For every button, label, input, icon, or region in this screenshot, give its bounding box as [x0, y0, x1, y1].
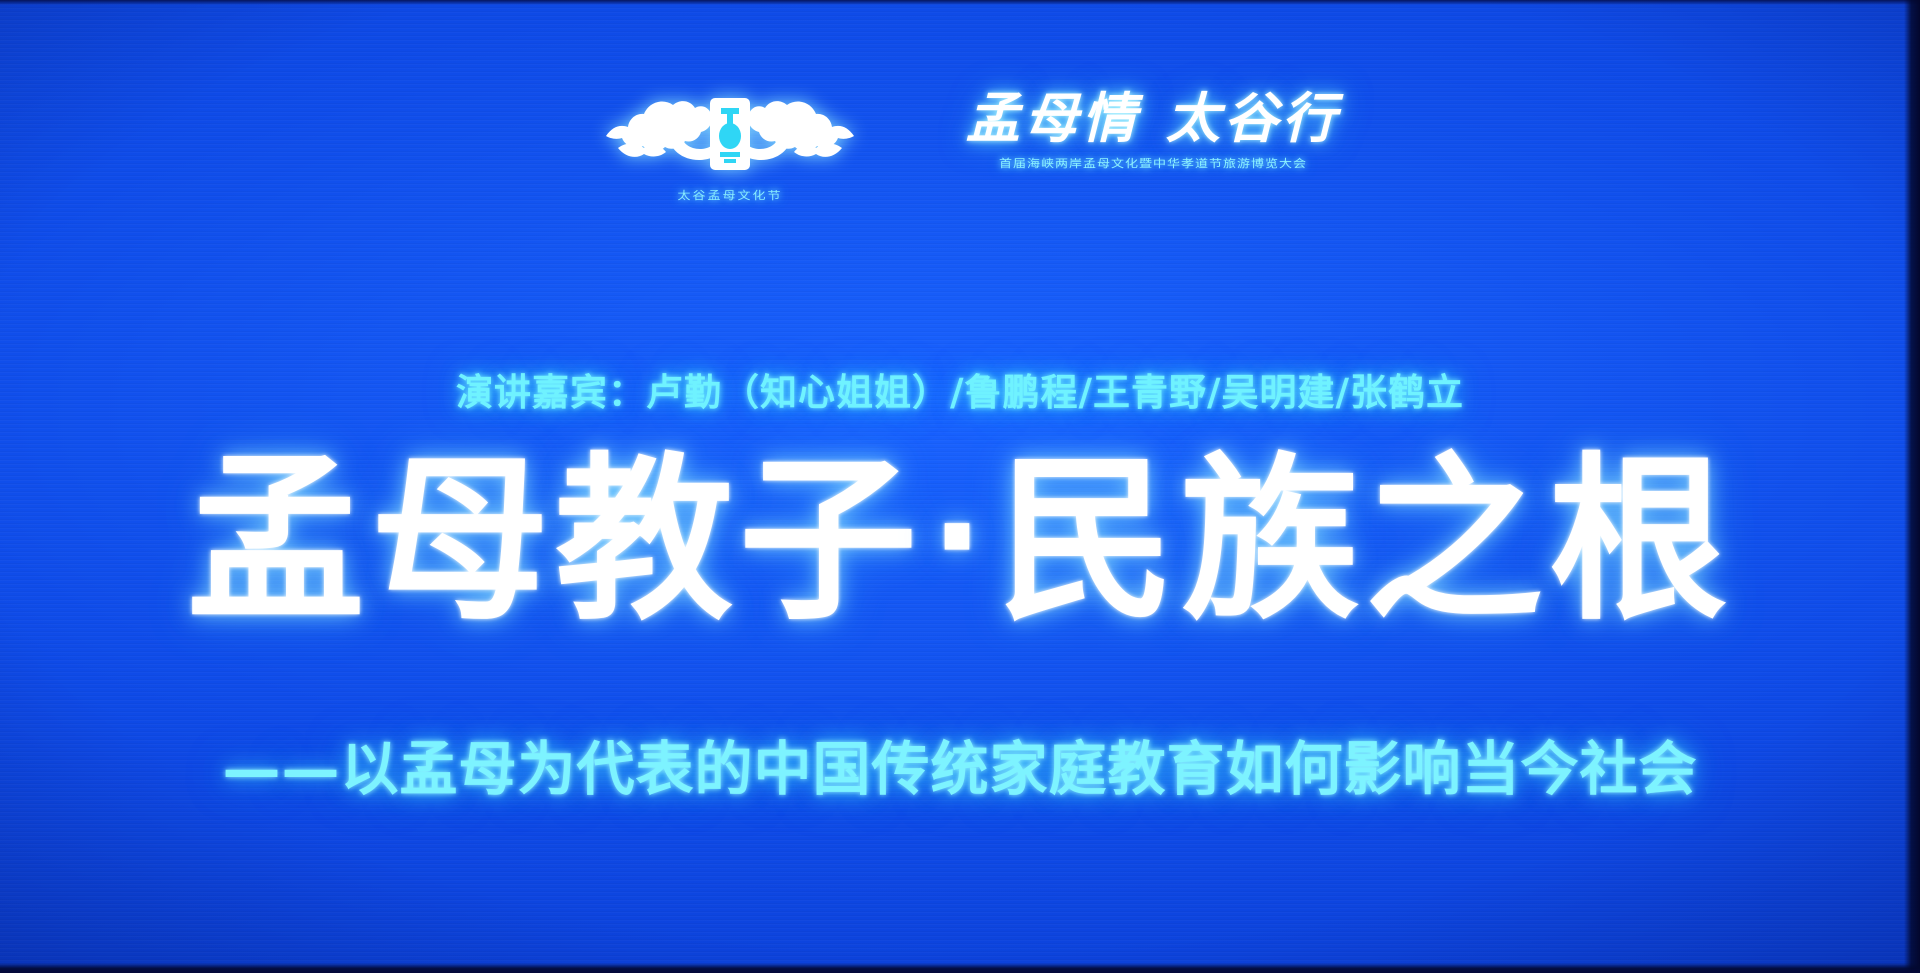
calligraphy-phrase-one: 孟母情: [966, 86, 1140, 150]
headline-subtitle: ——以孟母为代表的中国传统家庭教育如何影响当今社会: [0, 722, 1920, 806]
ornamental-cloud-emblem: [596, 86, 864, 182]
right-logo-group: 孟母情太谷行 首届海峡两岸孟母文化暨中华孝道节旅游博览大会: [966, 86, 1340, 172]
speakers-line: 演讲嘉宾：卢勤（知心姐姐）/鲁鹏程/王青野/吴明建/张鹤立: [0, 362, 1920, 416]
led-stage-backdrop: 太谷孟母文化节 孟母情太谷行 首届海峡两岸孟母文化暨中华孝道节旅游博览大会 演讲…: [0, 0, 1920, 973]
main-headline: 孟母教子·民族之根: [0, 452, 1920, 630]
logo-band: 太谷孟母文化节 孟母情太谷行 首届海峡两岸孟母文化暨中华孝道节旅游博览大会: [0, 86, 1920, 204]
right-logo-caption: 首届海峡两岸孟母文化暨中华孝道节旅游博览大会: [999, 154, 1307, 170]
headline-part-one: 孟母教子: [187, 437, 923, 644]
headline-part-two: 民族之根: [997, 437, 1733, 644]
left-logo-caption: 太谷孟母文化节: [677, 187, 782, 203]
calligraphy-phrase-two: 太谷行: [1166, 86, 1340, 150]
event-calligraphy: 孟母情太谷行: [966, 90, 1340, 147]
backdrop-content: 太谷孟母文化节 孟母情太谷行 首届海峡两岸孟母文化暨中华孝道节旅游博览大会 演讲…: [0, 0, 1920, 973]
headline-separator: ·: [923, 468, 997, 608]
left-logo-group: 太谷孟母文化节: [580, 86, 880, 204]
